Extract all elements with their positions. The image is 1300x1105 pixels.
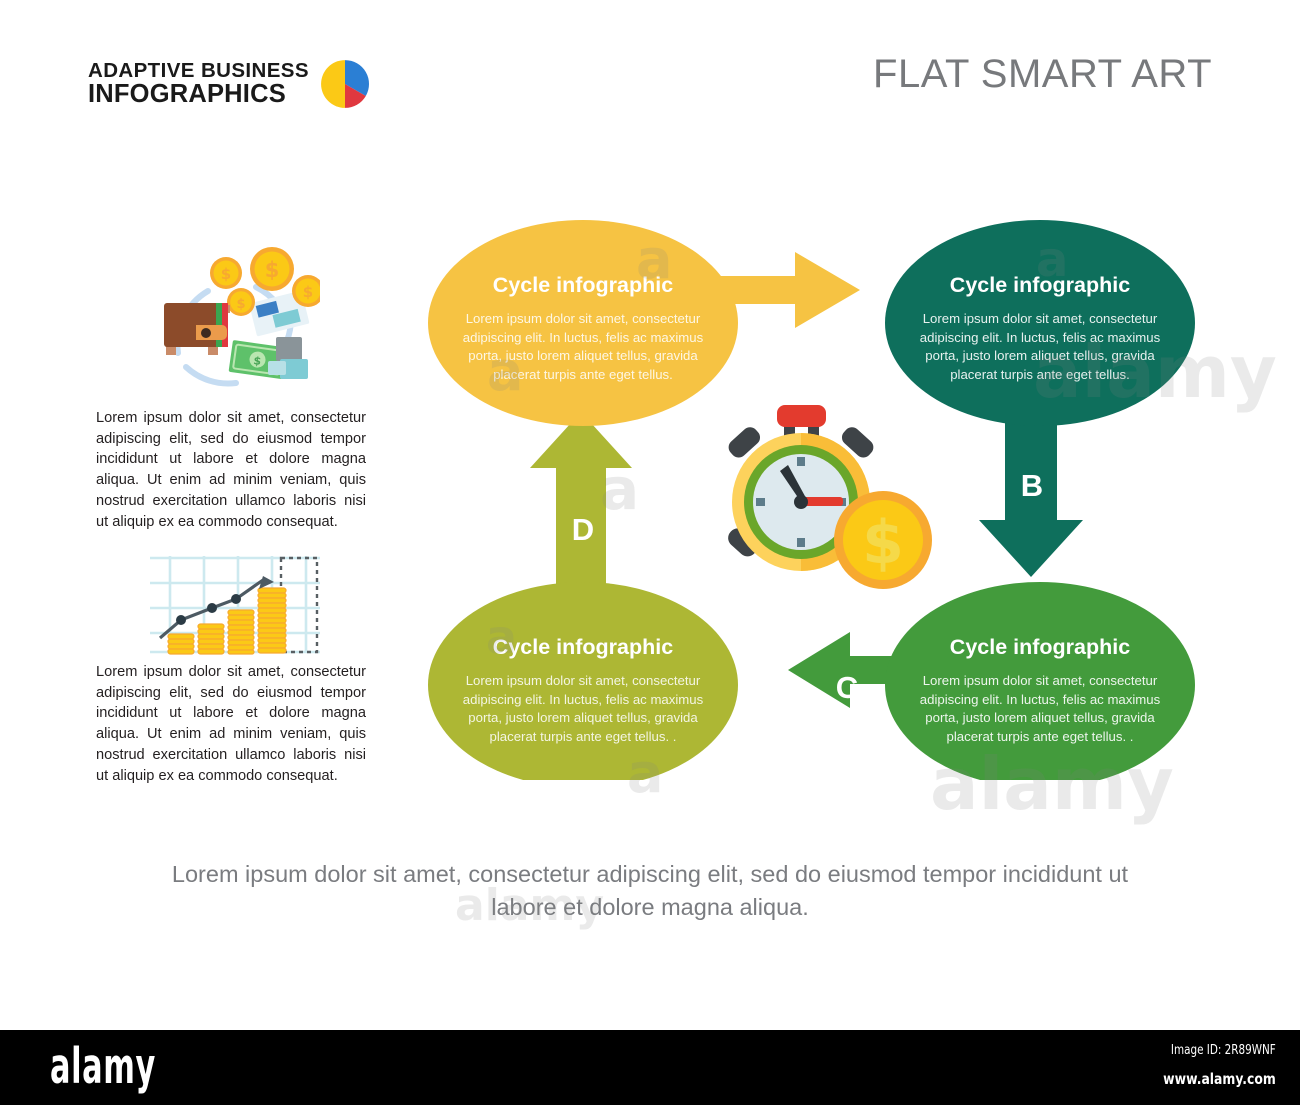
brand-logo: ADAPTIVE BUSINESS INFOGRAPHICS — [88, 58, 371, 110]
footer-image-id: Image ID: 2R89WNF — [1163, 1043, 1276, 1058]
node-top-right-body: Lorem ipsum dolor sit amet, consectetur … — [915, 310, 1165, 385]
node-top-left-body: Lorem ipsum dolor sit amet, consectetur … — [458, 310, 708, 385]
pie-chart-icon — [319, 58, 371, 110]
svg-text:$: $ — [862, 508, 904, 578]
node-bottom-right-title: Cycle infographic — [950, 635, 1130, 659]
arrow-a[interactable] — [720, 252, 860, 328]
bottom-caption: Lorem ipsum dolor sit amet, consectetur … — [150, 858, 1150, 925]
arrow-d[interactable] — [530, 412, 632, 590]
brand-logo-line1: ADAPTIVE BUSINESS — [88, 61, 309, 82]
brand-logo-line2: INFOGRAPHICS — [88, 81, 309, 107]
wallet-coins-banknotes-icon: $ $ $ $ $ — [148, 243, 320, 398]
svg-text:$: $ — [236, 297, 245, 312]
page-title: FLAT SMART ART — [873, 52, 1212, 97]
svg-text:$: $ — [265, 258, 280, 282]
left-paragraph-1: Lorem ipsum dolor sit amet, consectetur … — [96, 408, 366, 532]
growth-bar-chart-coins-icon — [146, 552, 324, 663]
alamy-footer-bar: alamy Image ID: 2R89WNF www.alamy.com — [0, 1030, 1300, 1105]
brand-logo-text: ADAPTIVE BUSINESS INFOGRAPHICS — [88, 61, 309, 107]
slide-canvas: ADAPTIVE BUSINESS INFOGRAPHICS FLAT SMAR… — [0, 0, 1300, 1030]
arrow-b-label: B — [1021, 468, 1043, 503]
node-bottom-right-body: Lorem ipsum dolor sit amet, consectetur … — [915, 672, 1165, 747]
arrow-c-label: C — [836, 670, 858, 705]
svg-text:$: $ — [221, 265, 231, 283]
footer-url[interactable]: www.alamy.com — [1163, 1070, 1276, 1088]
alamy-brand-logo: alamy — [50, 1038, 156, 1095]
left-paragraph-2: Lorem ipsum dolor sit amet, consectetur … — [96, 662, 366, 786]
footer-meta: Image ID: 2R89WNF www.alamy.com — [1135, 1043, 1276, 1088]
arrow-a-label: A — [770, 323, 792, 358]
node-top-right-title: Cycle infographic — [950, 273, 1130, 297]
svg-text:$: $ — [303, 283, 313, 301]
node-bottom-left-title: Cycle infographic — [493, 635, 673, 659]
stopwatch-dollar-coin-icon: $ — [724, 405, 932, 589]
cycle-diagram: A B C D — [420, 220, 1220, 780]
node-bottom-left-body: Lorem ipsum dolor sit amet, consectetur … — [458, 672, 708, 747]
node-top-left-title: Cycle infographic — [493, 273, 673, 297]
arrow-d-label: D — [572, 512, 594, 547]
